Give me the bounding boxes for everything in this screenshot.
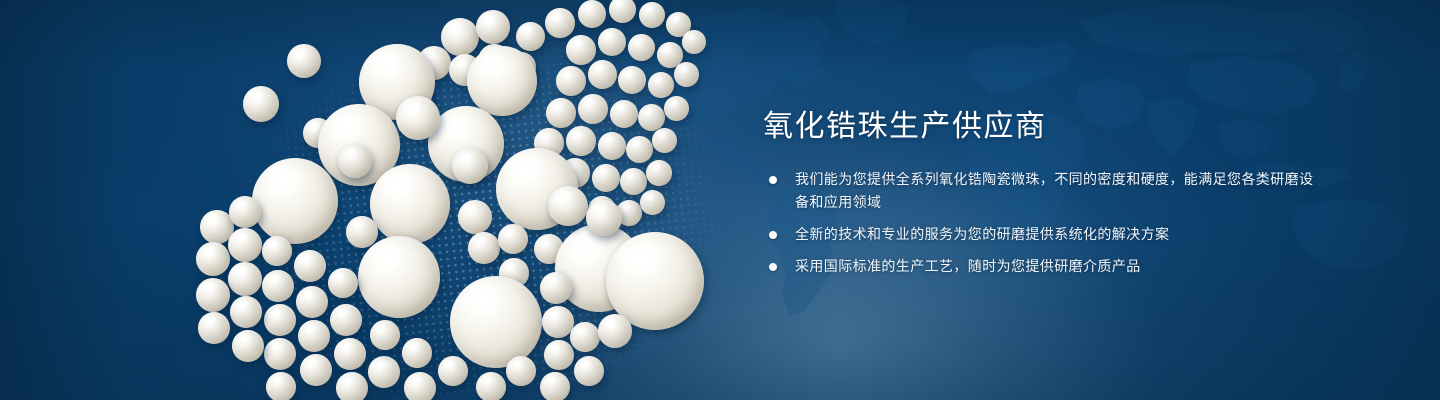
bullet-dot-icon	[769, 176, 777, 184]
bullet-dot-icon	[769, 231, 777, 239]
list-item: 全新的技术和专业的服务为您的研磨提供系统化的解决方案	[769, 223, 1323, 246]
list-item: 我们能为您提供全系列氧化锆陶瓷微珠，不同的密度和硬度，能满足您各类研磨设备和应用…	[769, 168, 1323, 214]
page-title: 氧化锆珠生产供应商	[763, 108, 1323, 146]
list-item-label: 采用国际标准的生产工艺，随时为您提供研磨介质产品	[795, 255, 1323, 278]
list-item: 采用国际标准的生产工艺，随时为您提供研磨介质产品	[769, 255, 1323, 278]
list-item-label: 我们能为您提供全系列氧化锆陶瓷微珠，不同的密度和硬度，能满足您各类研磨设备和应用…	[795, 168, 1323, 214]
feature-list: 我们能为您提供全系列氧化锆陶瓷微珠，不同的密度和硬度，能满足您各类研磨设备和应用…	[769, 168, 1323, 278]
halftone-dot-texture	[41, 0, 779, 400]
list-item-label: 全新的技术和专业的服务为您的研磨提供系统化的解决方案	[795, 223, 1323, 246]
hero-banner: 氧化锆珠生产供应商 我们能为您提供全系列氧化锆陶瓷微珠，不同的密度和硬度，能满足…	[0, 0, 1440, 400]
bullet-dot-icon	[769, 263, 777, 271]
banner-copy: 氧化锆珠生产供应商 我们能为您提供全系列氧化锆陶瓷微珠，不同的密度和硬度，能满足…	[763, 108, 1323, 278]
